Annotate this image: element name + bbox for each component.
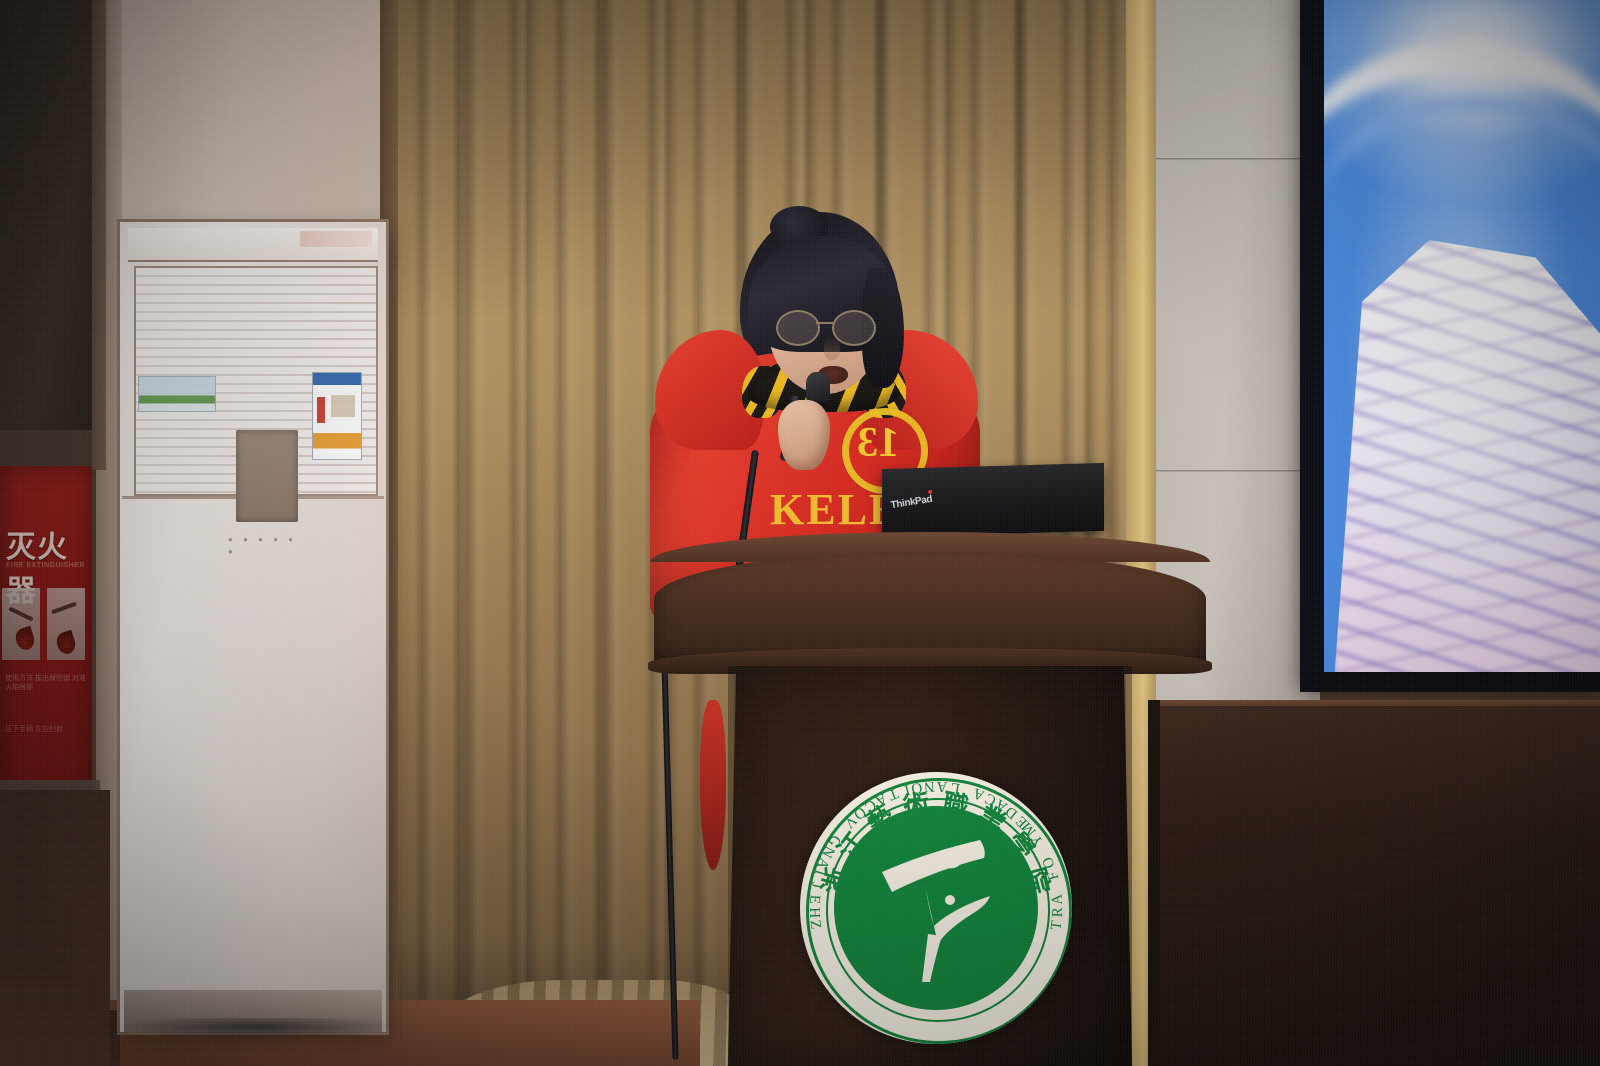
glasses-icon [776, 310, 880, 344]
projection-screen-bottom-edge [1300, 672, 1600, 690]
panel-seam [1156, 470, 1320, 473]
ac-floor-shadow [116, 1018, 396, 1040]
emblem-english-char: E [805, 894, 823, 905]
ac-energy-label-sticker [312, 372, 362, 460]
glasses-lens-right [832, 310, 876, 346]
fire-extinguisher-sign: 灭火器 FIRE EXTINGUISHER 使用方法 拔出保险销 对准火焰根部 … [0, 466, 92, 796]
emblem-english-char: N [922, 777, 935, 795]
fire-sign-pictogram-2 [47, 588, 85, 660]
fire-sign-english-label: FIRE EXTINGUISHER [6, 562, 90, 569]
foreground-wooden-ledge [1160, 706, 1600, 1066]
flame-icon [54, 630, 78, 656]
extinguisher-nozzle-icon [8, 607, 33, 622]
emblem-english-char: L [949, 778, 962, 796]
screen-glow [1324, 0, 1600, 676]
auditorium-photo: 灭火器 FIRE EXTINGUISHER 使用方法 拔出保险销 对准火焰根部 … [0, 0, 1600, 1066]
hoodie-sleeve-behind-podium [700, 700, 726, 870]
ac-sticker-green [138, 376, 216, 412]
emblem-english-char: T [1048, 919, 1066, 931]
projection-screen-image [1324, 0, 1600, 676]
emblem-english-text: ZHEJIANG VOCATIONAL ACADEMY OF ART [800, 772, 1072, 1044]
speaker-hand [778, 400, 830, 470]
hoodie-print-monogram: 13 [852, 416, 904, 470]
emblem-english-char: O [1039, 853, 1059, 870]
emblem-english-char: A [1049, 892, 1067, 905]
fire-sign-instruction-1: 使用方法 拔出保险销 对准火焰根部 [5, 674, 89, 692]
energy-label-box [331, 395, 355, 417]
ac-brand-label [300, 231, 372, 247]
fire-sign-pictogram-1 [2, 588, 40, 660]
ac-control-buttons[interactable]: ● ● ● ● ● ● [228, 534, 308, 558]
glasses-bridge [816, 322, 834, 324]
emblem-english-char: F [1045, 868, 1064, 882]
panel-seam [1156, 158, 1320, 161]
emblem-english-char: R [1050, 906, 1067, 918]
glasses-lens-left [776, 310, 820, 346]
ac-display-panel [236, 430, 298, 522]
emblem-english-char: H [805, 907, 822, 919]
fire-sign-header-band [0, 430, 92, 470]
extinguisher-pin-icon [51, 602, 77, 615]
emblem-english-char: O [909, 778, 923, 797]
emblem-english-char: Z [806, 919, 824, 931]
microphone-head[interactable] [806, 372, 830, 402]
flame-icon [13, 626, 37, 652]
fire-sign-instruction-2: 压下手柄 左右扫射 [5, 724, 89, 734]
energy-bar-icon [317, 397, 325, 423]
lower-dark-wall [0, 790, 110, 1066]
ac-model-text [230, 392, 294, 402]
dark-door-column [0, 0, 96, 470]
emblem-english-char: J [807, 881, 825, 891]
emblem-english-char: A [935, 777, 948, 795]
academy-emblem: 浙江藝術職業學院 ZHEJIANG VOCATIONAL ACADEMY OF … [800, 772, 1072, 1044]
door-frame-edge [92, 0, 106, 470]
